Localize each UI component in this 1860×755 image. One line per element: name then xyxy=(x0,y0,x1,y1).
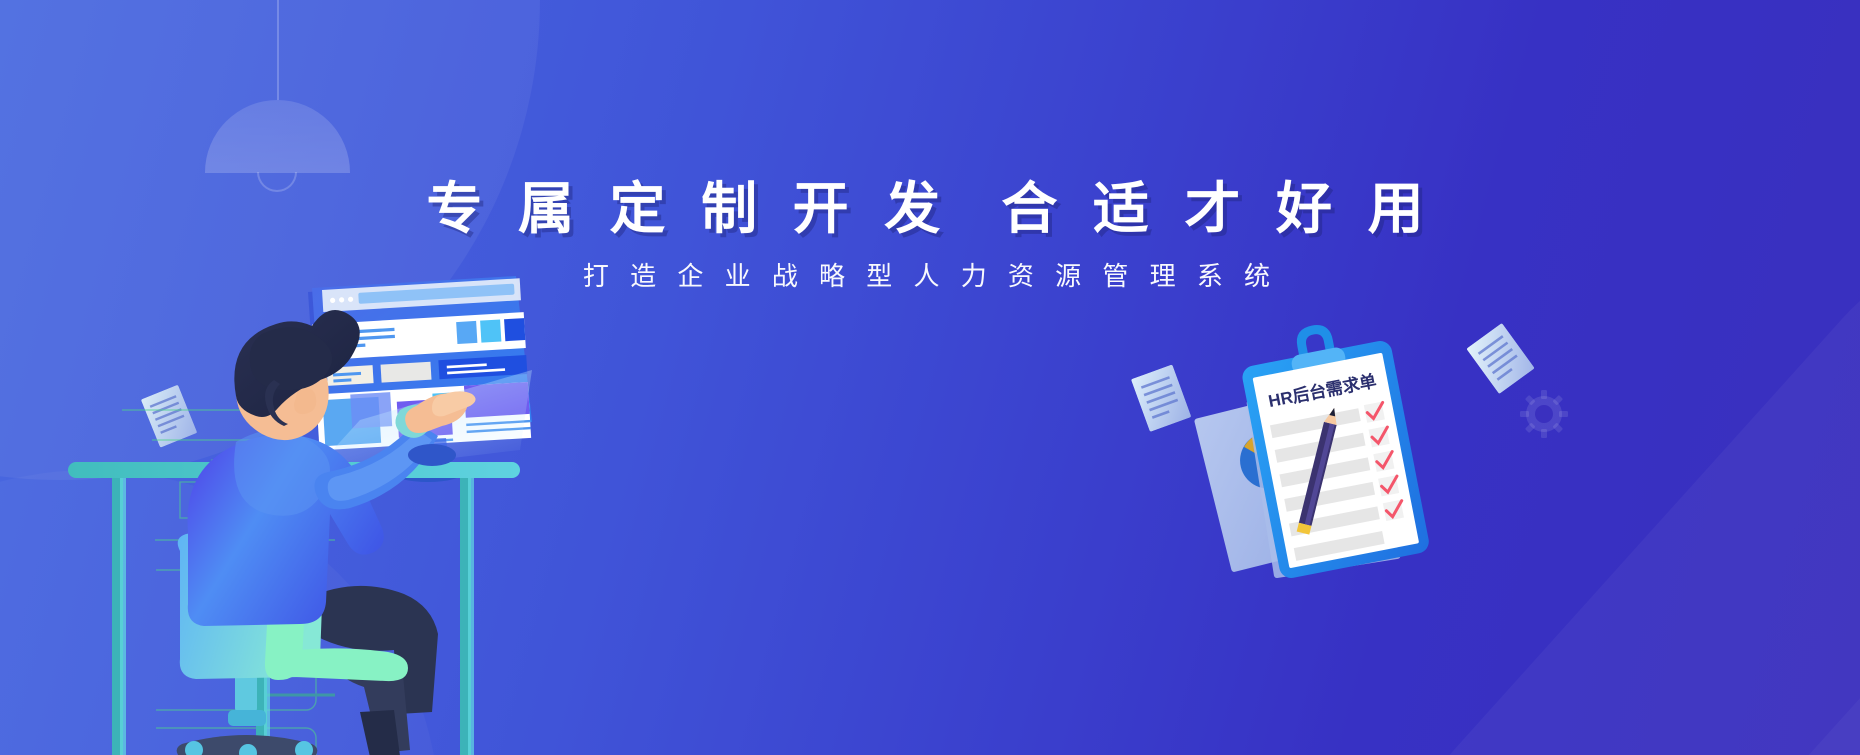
hr-clipboard-illustration: HR后台需求单 xyxy=(1180,320,1510,620)
page-subtitle: 打 造 企 业 战 略 型 人 力 资 源 管 理 系 统 xyxy=(0,256,1860,293)
headline-block: 专 属 定 制 开 发 合 适 才 好 用 打 造 企 业 战 略 型 人 力 … xyxy=(0,176,1860,293)
lamp-cord xyxy=(277,0,279,100)
developer-at-desk-illustration xyxy=(60,250,620,755)
background-diagonal-shape-back xyxy=(1591,328,1860,755)
hero-banner: 专 属 定 制 开 发 合 适 才 好 用 打 造 企 业 战 略 型 人 力 … xyxy=(0,0,1860,755)
gear-right-icon xyxy=(1520,390,1568,438)
lamp-shade xyxy=(205,100,350,173)
page-title: 专 属 定 制 开 发 合 适 才 好 用 xyxy=(0,176,1860,242)
